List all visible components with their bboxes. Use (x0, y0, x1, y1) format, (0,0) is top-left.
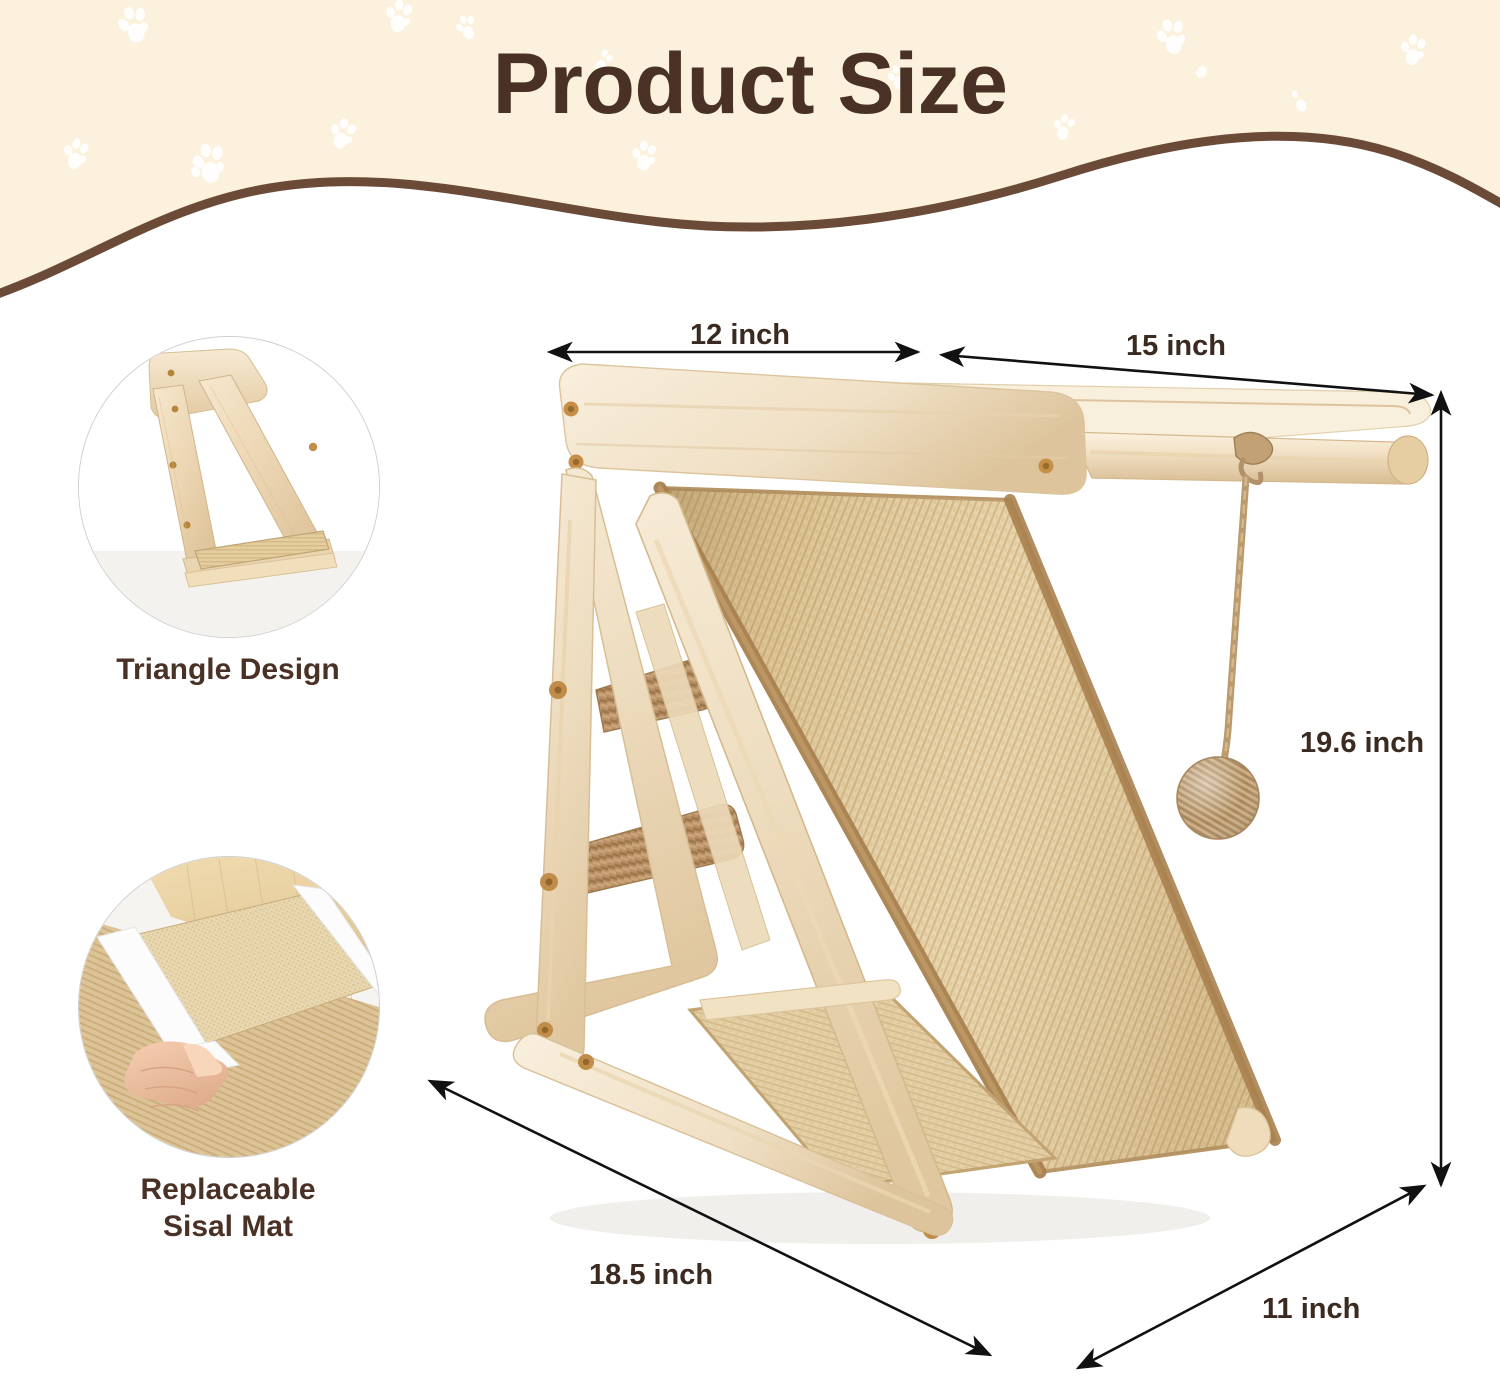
hanging-sisal-rope-ball (1177, 432, 1273, 839)
sisal-ball (1177, 757, 1259, 839)
top-wooden-panel (559, 364, 1086, 494)
dim-label-12-inch: 12 inch (690, 319, 790, 352)
page-title: Product Size (0, 38, 1500, 131)
sisal-mat-caption-line-1: Replaceable (40, 1172, 416, 1209)
base-rails (513, 980, 952, 1236)
sisal-mat-caption: Replaceable Sisal Mat (40, 1172, 416, 1245)
diagonal-support-leg (636, 493, 952, 1239)
rope-knot (1234, 432, 1273, 464)
front-left-leg (485, 468, 717, 1070)
bottom-sisal-mat (690, 986, 1055, 1188)
ramp-rope-edge-right (1010, 500, 1275, 1140)
sisal-scratch-ramp (660, 488, 1275, 1172)
dim-line-18-5-inch (432, 1082, 990, 1355)
dim-label-11-inch: 11 inch (1262, 1293, 1360, 1326)
triangle-design-photo (78, 336, 380, 638)
dim-label-18-5-inch: 18.5 inch (589, 1259, 713, 1292)
rope-wrapped-crossbar-upper (596, 659, 715, 732)
back-leg (636, 604, 770, 950)
sisal-mat-caption-line-2: Sisal Mat (40, 1209, 416, 1246)
ramp-rope-edge-left (660, 488, 1040, 1172)
dowel-rod (1070, 432, 1428, 484)
dim-label-19-6-inch: 19.6 inch (1300, 727, 1424, 760)
top-shelf-plank (905, 383, 1430, 452)
rope-wrapped-crossbar-lower (556, 805, 744, 898)
dimension-lines (432, 352, 1441, 1368)
right-foot (1226, 1107, 1270, 1156)
floor-shadow (550, 1192, 1210, 1244)
rope-strand (1222, 478, 1246, 770)
dim-line-11-inch (1078, 1187, 1422, 1368)
sisal-mat-peel-photo (78, 856, 380, 1158)
dim-label-15-inch: 15 inch (1126, 330, 1226, 363)
product-size-infographic: Product Size (0, 0, 1500, 1388)
triangle-design-caption: Triangle Design (40, 652, 416, 689)
header-band: Product Size (0, 0, 1500, 300)
